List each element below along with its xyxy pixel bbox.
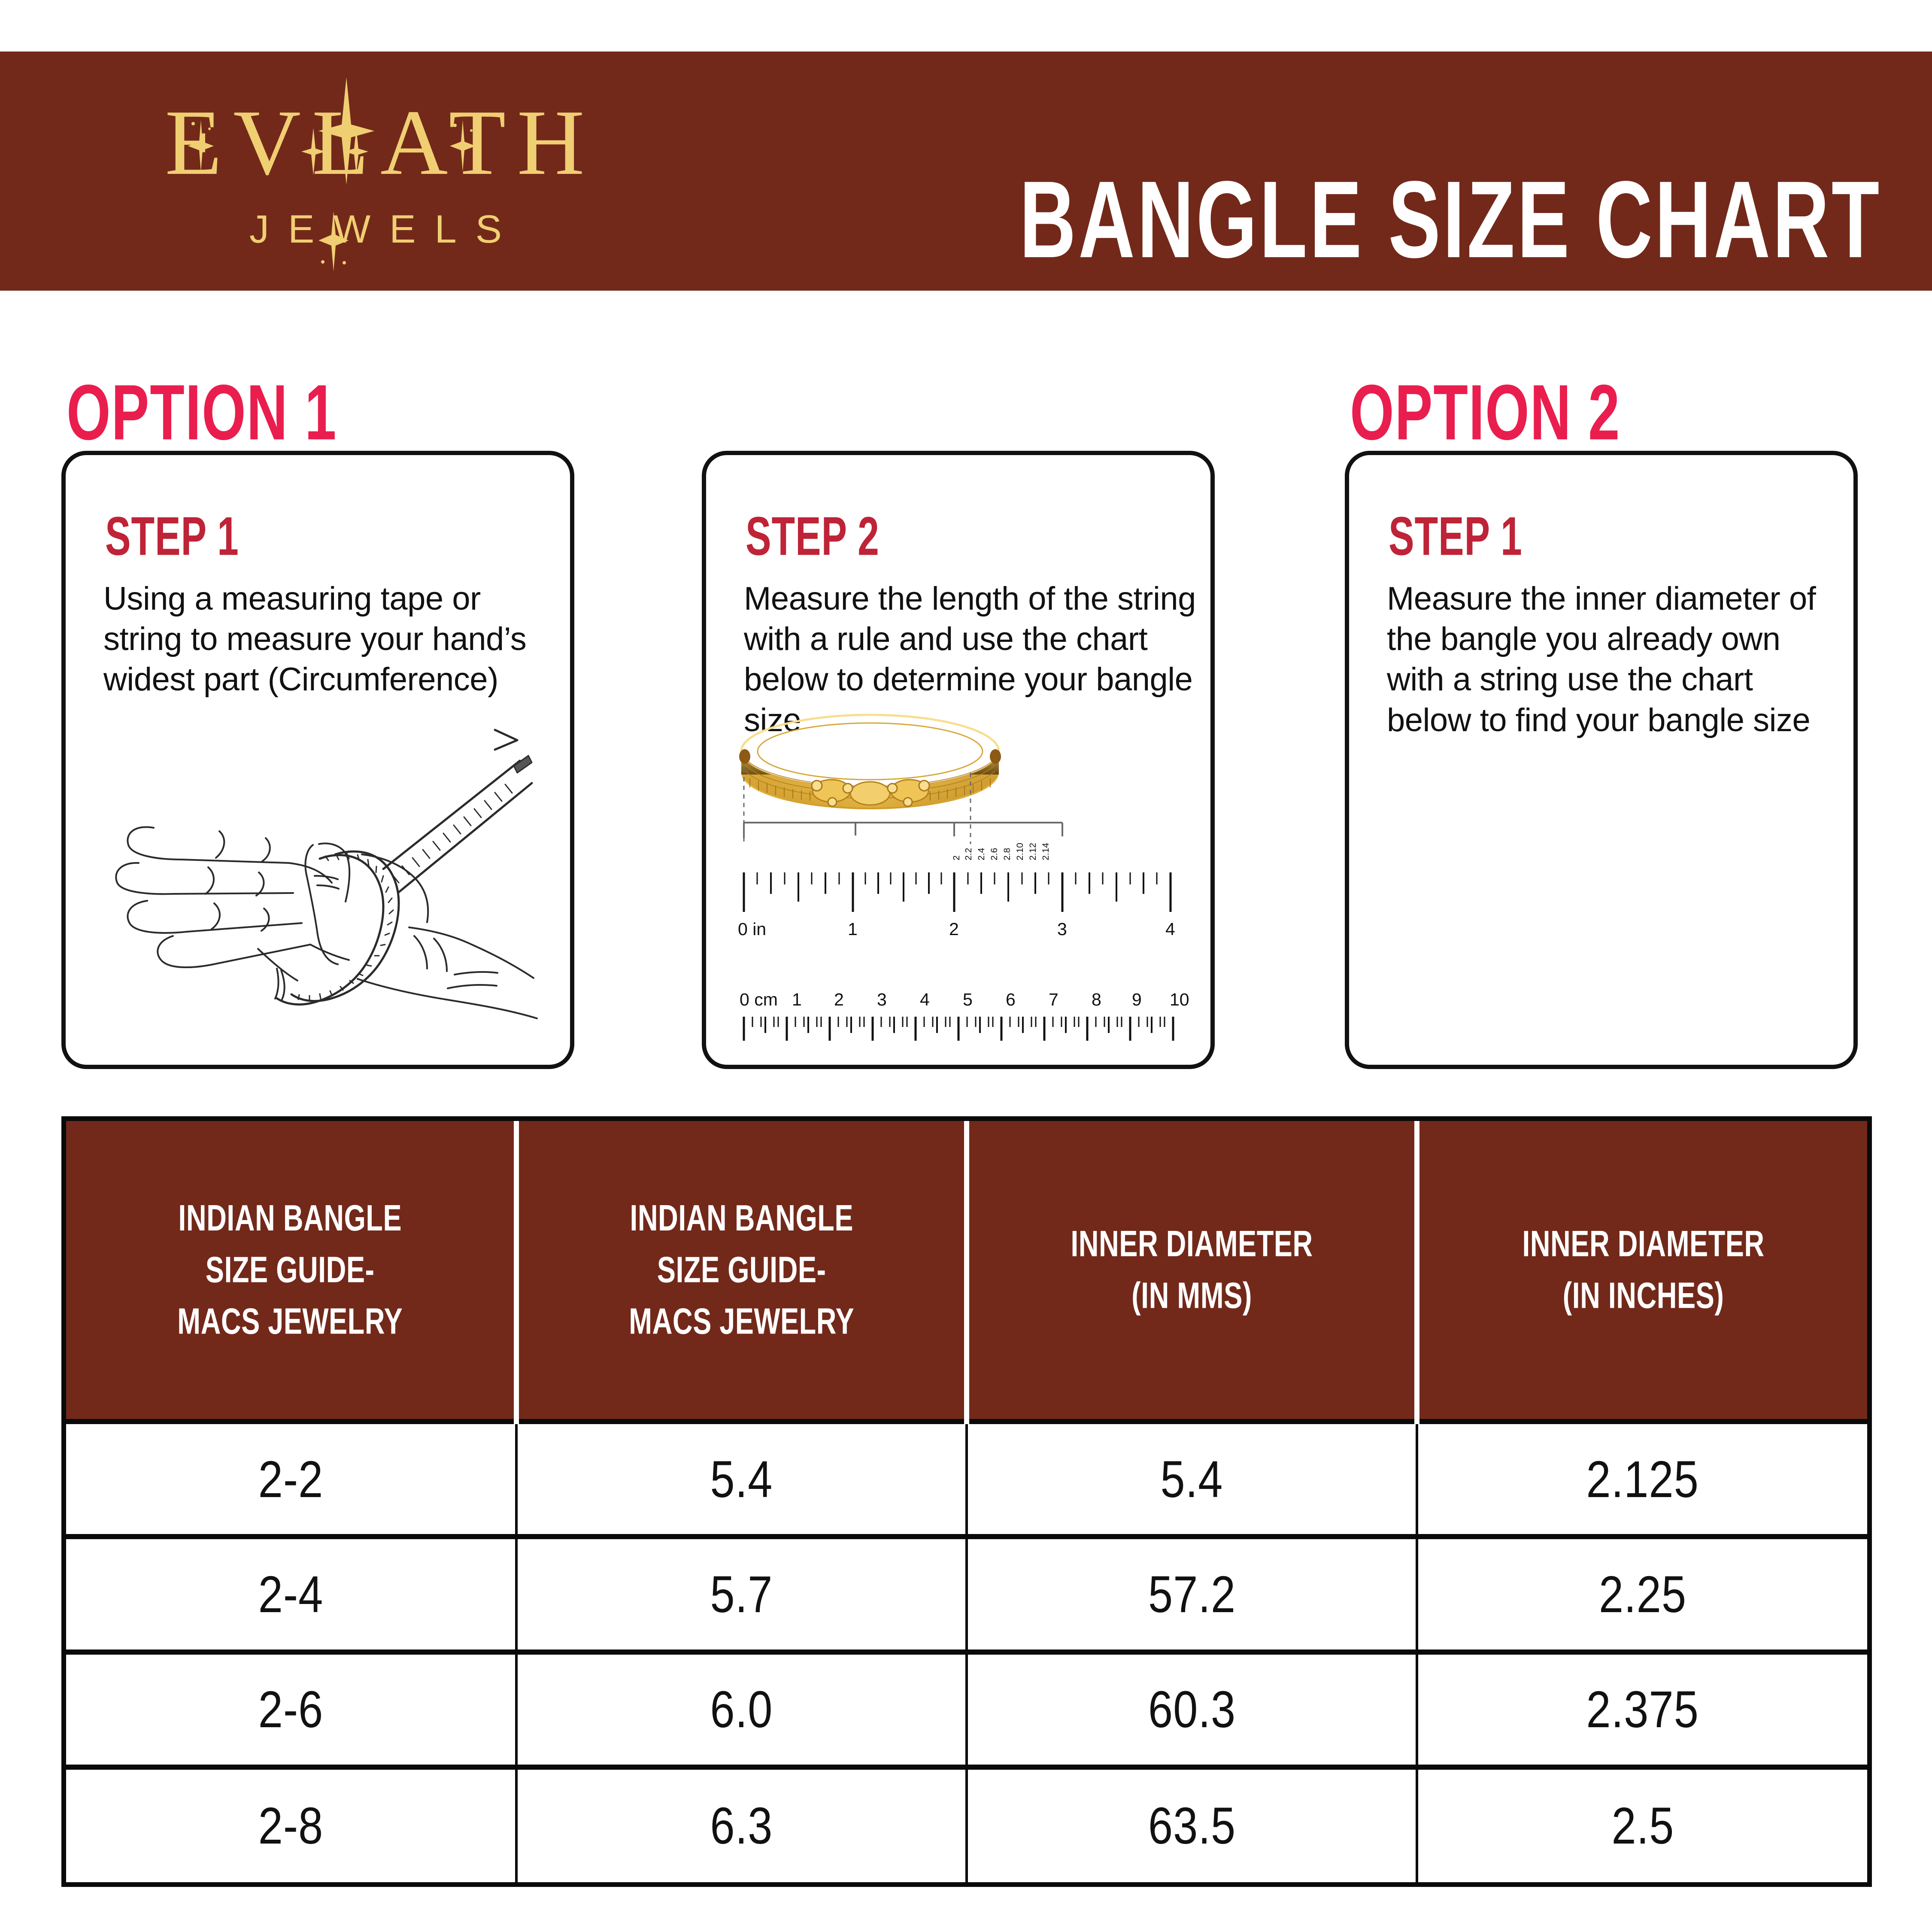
brand-name: EVLATH <box>155 96 596 190</box>
cell-diameter-inches: 2.125 <box>1417 1422 1867 1537</box>
brand-logo: EVLATH JEWELS <box>64 73 687 275</box>
cm-label: 2 <box>834 990 844 1009</box>
size-tick-label: 2.12 <box>1028 843 1038 860</box>
card-option1-step1: STEP 1 Using a measuring tape or string … <box>61 451 574 1069</box>
table-row: 2-8 6.3 63.5 2.5 <box>66 1767 1867 1882</box>
card-step2: STEP 2 Measure the length of the string … <box>702 451 1215 1069</box>
bangle-size-chart-page: EVLATH JEWELS <box>0 0 1932 1932</box>
cell-diameter-inches: 2.375 <box>1417 1652 1867 1767</box>
column-header-inner-diameter-inches: INNER DIAMETER (IN INCHES) <box>1417 1121 1867 1422</box>
cm-label: 7 <box>1049 990 1059 1009</box>
inch-label: 2 <box>949 919 959 939</box>
cell-indian-size-2: 6.3 <box>516 1767 967 1882</box>
cell-diameter-mm: 63.5 <box>967 1767 1417 1882</box>
cell-indian-size-2: 5.7 <box>516 1537 967 1652</box>
table-header-row: INDIAN BANGLE SIZE GUIDE- MACS JEWELRY I… <box>66 1121 1867 1422</box>
cell-diameter-inches: 2.25 <box>1417 1537 1867 1652</box>
step-title: STEP 1 <box>1389 506 1523 568</box>
cm-label: 9 <box>1132 990 1142 1009</box>
column-header-indian-size-2: INDIAN BANGLE SIZE GUIDE- MACS JEWELRY <box>516 1121 967 1422</box>
inch-label: 1 <box>848 919 858 939</box>
cell-indian-size-1: 2-8 <box>66 1767 516 1882</box>
cell-indian-size-1: 2-6 <box>66 1652 516 1767</box>
size-tick-label: 2.2 <box>964 848 974 860</box>
size-tick-label: 2.8 <box>1002 848 1012 860</box>
column-header-indian-size-1: INDIAN BANGLE SIZE GUIDE- MACS JEWELRY <box>66 1121 516 1422</box>
cell-indian-size-1: 2-2 <box>66 1422 516 1537</box>
step-description: Using a measuring tape or string to meas… <box>103 579 546 700</box>
size-tick-label: 2 <box>952 855 961 860</box>
card-option2-step1: STEP 1 Measure the inner diameter of the… <box>1345 451 1858 1069</box>
cm-label: 0 cm <box>740 990 778 1009</box>
step-title: STEP 2 <box>746 506 880 568</box>
size-tick-label: 2.10 <box>1015 843 1025 860</box>
inch-label: 0 in <box>738 919 766 939</box>
brand-tagline: JEWELS <box>231 207 521 252</box>
cell-indian-size-1: 2-4 <box>66 1537 516 1652</box>
cell-diameter-inches: 2.5 <box>1417 1767 1867 1882</box>
cell-diameter-mm: 57.2 <box>967 1537 1417 1652</box>
size-tick-label: 2.6 <box>989 848 999 860</box>
inch-label: 4 <box>1165 919 1175 939</box>
cm-label: 6 <box>1006 990 1016 1009</box>
inch-label: 3 <box>1057 919 1067 939</box>
table-row: 2-4 5.7 57.2 2.25 <box>66 1537 1867 1652</box>
page-title: BANGLE SIZE CHART <box>1019 157 1818 283</box>
step-title: STEP 1 <box>105 506 239 568</box>
cm-label: 10 <box>1170 990 1189 1009</box>
bangle-ruler-illustration: 2 2.2 2.4 2.6 2.8 2.10 2.12 2.14 <box>719 687 1217 1043</box>
cm-ruler: 0 cm 1 2 3 4 5 6 7 8 9 10 <box>740 990 1189 1041</box>
cell-indian-size-2: 5.4 <box>516 1422 967 1537</box>
cell-diameter-mm: 5.4 <box>967 1422 1417 1537</box>
size-tick-label: 2.14 <box>1041 843 1051 860</box>
hand-measuring-tape-illustration <box>109 721 538 1048</box>
size-tick-label: 2.4 <box>977 848 986 860</box>
table-row: 2-6 6.0 60.3 2.375 <box>66 1652 1867 1767</box>
column-header-inner-diameter-mm: INNER DIAMETER (IN MMS) <box>967 1121 1417 1422</box>
cm-label: 4 <box>920 990 930 1009</box>
page-header: EVLATH JEWELS <box>0 52 1932 291</box>
cm-label: 5 <box>963 990 973 1009</box>
step-description: Measure the inner diameter of the bangle… <box>1387 579 1833 741</box>
inch-ruler: 0 in 1 2 3 4 <box>738 872 1175 939</box>
cell-indian-size-2: 6.0 <box>516 1652 967 1767</box>
bangle-size-table: INDIAN BANGLE SIZE GUIDE- MACS JEWELRY I… <box>61 1116 1872 1887</box>
table-row: 2-2 5.4 5.4 2.125 <box>66 1422 1867 1537</box>
bangle-graphic <box>739 715 1001 809</box>
option-1-label: OPTION 1 <box>67 367 337 458</box>
cell-diameter-mm: 60.3 <box>967 1652 1417 1767</box>
cm-label: 8 <box>1092 990 1101 1009</box>
cm-label: 1 <box>792 990 802 1009</box>
option-2-label: OPTION 2 <box>1350 367 1620 458</box>
cm-label: 3 <box>877 990 887 1009</box>
